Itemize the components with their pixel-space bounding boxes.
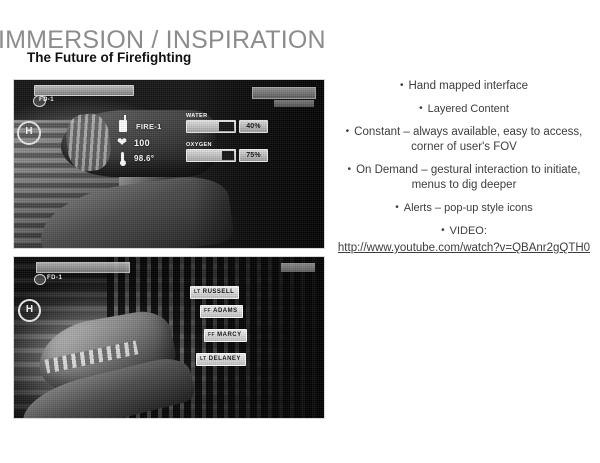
- hud-top-bar: [34, 85, 134, 96]
- hud-gauge-upper-bar: [186, 120, 236, 133]
- bullet-item: •Constant – always available, easy to ac…: [336, 124, 592, 155]
- hud-gauge-upper-value: 40%: [239, 120, 268, 133]
- hud-corner-panel-secondary: [274, 100, 314, 107]
- hud-bottom-top-bar-label: FD-1: [47, 275, 62, 281]
- presentation-slide: IMMERSION / INSPIRATION The Future of Fi…: [0, 0, 600, 463]
- video-url-link[interactable]: http://www.youtube.com/watch?v=QBAnr2gQT…: [336, 241, 592, 255]
- name-tag-name: DELANEY: [209, 356, 241, 362]
- bullet-item: •Layered Content: [336, 101, 592, 117]
- bullet-text: Constant – always available, easy to acc…: [354, 126, 582, 153]
- radio-icon: [119, 120, 127, 132]
- hud-corner-panel: [252, 87, 316, 99]
- hud-gauge-lower-bar: [186, 149, 236, 162]
- hud-bottom-top-bar: [36, 262, 130, 273]
- bullet-content: •Hand mapped interface •Layered Content …: [336, 78, 592, 255]
- name-tag-rank: LT: [194, 289, 201, 295]
- hud-top-bar-label: FD-1: [39, 97, 54, 103]
- page-subtitle: The Future of Firefighting: [27, 50, 191, 65]
- name-tag-rank: FF: [204, 308, 211, 314]
- name-tag: LTRUSSELL: [190, 286, 239, 299]
- photo-firefighter-hud-team-tags: FD-1 H LTRUSSELL FFADAMS FFMARCY LTDELAN…: [13, 256, 325, 419]
- hud-bottom-badge-icon: H: [18, 299, 41, 322]
- bullet-item-video: •VIDEO:: [336, 223, 592, 239]
- name-tag-name: ADAMS: [213, 308, 238, 314]
- name-tag-name: MARCY: [217, 332, 242, 338]
- name-tag: FFMARCY: [204, 329, 247, 342]
- bullet-marker: •: [400, 80, 404, 91]
- bullet-marker: •: [348, 164, 352, 175]
- bullet-item: •On Demand – gestural interaction to ini…: [336, 162, 592, 193]
- bullet-item: •Hand mapped interface: [336, 78, 592, 94]
- hud-badge-icon: H: [17, 121, 41, 145]
- bullet-marker: •: [346, 126, 350, 137]
- hud-bottom-status-chip: [34, 274, 46, 285]
- hud-bottom-corner-panel: [281, 263, 315, 272]
- bullet-text: Layered Content: [428, 103, 509, 115]
- bullet-text: VIDEO:: [450, 225, 487, 237]
- name-tag: FFADAMS: [200, 305, 243, 318]
- bullet-marker: •: [419, 103, 423, 114]
- bullet-text: On Demand – gestural interaction to init…: [356, 164, 580, 191]
- name-tag-name: RUSSELL: [203, 289, 235, 295]
- thermometer-icon: [121, 152, 124, 164]
- hud-gauge-lower-label: OXYGEN: [186, 142, 212, 148]
- hud-radio-channel: FIRE-1: [136, 123, 162, 131]
- hud-temperature: 98.6°: [134, 155, 154, 163]
- name-tag-rank: FF: [208, 332, 215, 338]
- bullet-text: Hand mapped interface: [408, 80, 528, 92]
- bullet-item: •Alerts – pop-up style icons: [336, 200, 592, 216]
- hud-heart-rate: 100: [134, 139, 150, 148]
- heart-icon: ❤: [117, 137, 129, 148]
- photo-firefighter-hud-vitals: FD-1 H FIRE-1 ❤ 100 98.6° WATER 40% OXYG…: [13, 79, 325, 249]
- bullet-marker: •: [395, 202, 399, 213]
- name-tag-rank: LT: [200, 356, 207, 362]
- name-tag: LTDELANEY: [196, 353, 246, 366]
- hud-gauge-upper-label: WATER: [186, 113, 207, 119]
- bullet-marker: •: [441, 225, 445, 236]
- bullet-text: Alerts – pop-up style icons: [404, 202, 533, 214]
- hud-gauge-lower-value: 75%: [239, 149, 268, 162]
